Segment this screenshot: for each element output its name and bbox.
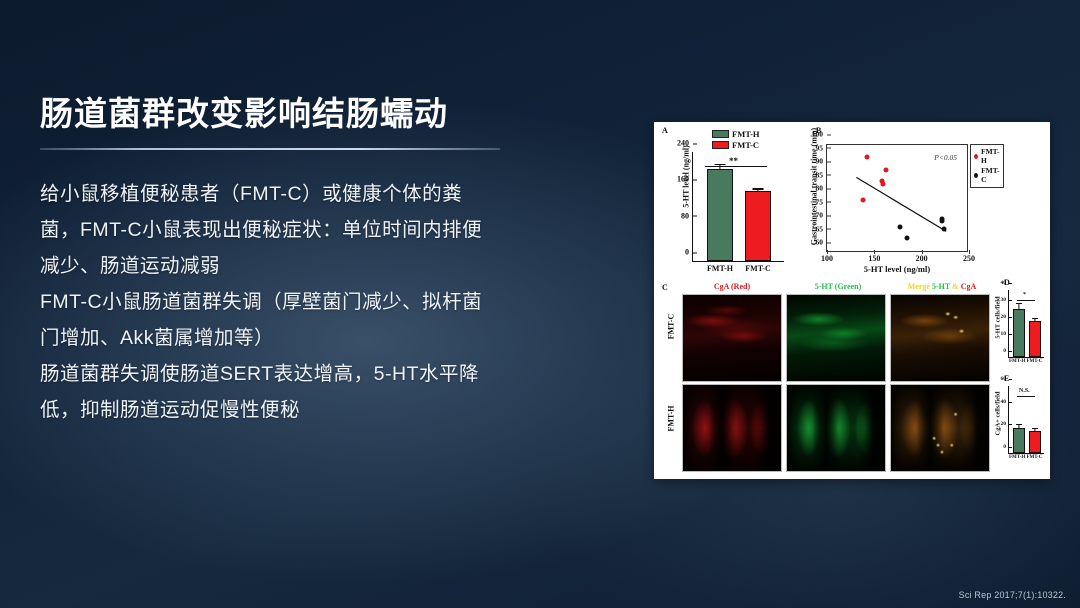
panel-b-point-fmt-h xyxy=(883,168,888,173)
micrograph-fmt-c-merge xyxy=(890,294,990,382)
panel-d-bar-fill-fmt-c xyxy=(1029,321,1041,357)
panel-b-ytick-90: 90 xyxy=(816,157,828,166)
panel-d-bar-fill-fmt-h xyxy=(1013,309,1025,357)
body-line-6: 肠道菌群失调使肠道SERT表达增高，5-HT水平降 xyxy=(40,356,640,392)
panel-c-column-label-cga: CgA (Red) xyxy=(682,282,782,291)
panel-b-point-fmt-h xyxy=(864,154,869,159)
panel-b-ytick-75: 75 xyxy=(816,197,828,206)
micrograph-fmt-c-cga xyxy=(682,294,782,382)
panel-a-bar-chart: A FMT-H FMT-C 5-HT level (ng/ml) 0 80 16… xyxy=(660,126,792,276)
panel-e-bar-fill-fmt-h xyxy=(1013,428,1025,453)
body-line-1: 给小鼠移植便秘患者（FMT-C）或健康个体的粪 xyxy=(40,176,640,212)
panel-a-ytick-80: 80 xyxy=(681,211,693,220)
panel-c-column-label-5ht: 5-HT (Green) xyxy=(788,282,888,291)
panel-b-point-fmt-c xyxy=(897,224,902,229)
panel-b-legend: FMT-H FMT-C xyxy=(970,144,1004,188)
legend-label-b-fmt-h: FMT-H xyxy=(981,147,1000,165)
micrograph-fmt-h-5ht xyxy=(786,384,886,472)
panel-a-errorcap-fmt-h xyxy=(715,164,726,165)
slide-content: 肠道菌群改变影响结肠蠕动 给小鼠移植便秘患者（FMT-C）或健康个体的粪 菌，F… xyxy=(40,96,640,428)
panel-c-row-label-fmt-h: FMT-H xyxy=(667,384,676,454)
panel-b-xtick-100: 100 xyxy=(821,254,833,263)
panel-a-ytick-240: 240 xyxy=(677,139,693,148)
body-line-5: 门增加、Akk菌属增加等） xyxy=(40,320,640,356)
panel-e-plot-area: 0204060 N.S. FMT-H FMT-C xyxy=(1008,386,1044,454)
body-line-4: FMT-C小鼠肠道菌群失调（厚壁菌门减少、拟杆菌 xyxy=(40,284,640,320)
micrograph-fmt-h-cga xyxy=(682,384,782,472)
panel-b-x-axis-label: 5-HT level (ng/ml) xyxy=(826,264,968,274)
legend-dot-fmt-h xyxy=(974,154,978,159)
panel-b-point-fmt-h xyxy=(880,181,885,186)
panel-e-ytick-40: 40 xyxy=(1001,399,1010,405)
panel-b-ytick-85: 85 xyxy=(816,170,828,179)
panel-b-xtick-200: 200 xyxy=(916,254,928,263)
panel-b-pvalue-annotation: P<0.05 xyxy=(934,153,957,162)
panel-a-letter: A xyxy=(662,126,668,135)
panel-e-significance-marker: N.S. xyxy=(1019,388,1030,394)
panel-a-bar-fill-fmt-c xyxy=(745,191,771,261)
panel-a-ytick-160: 160 xyxy=(677,175,693,184)
panel-b-scatter-chart: B Gastrointestinal transit time (min) 60… xyxy=(796,126,986,276)
legend-label-fmt-c: FMT-C xyxy=(732,140,759,150)
panel-e-significance-line xyxy=(1017,396,1035,397)
panel-a-errorcap-fmt-c xyxy=(753,188,764,189)
panel-e-errorbar-fmt-c xyxy=(1034,429,1035,431)
page-title: 肠道菌群改变影响结肠蠕动 xyxy=(40,96,640,132)
body-text-block: 给小鼠移植便秘患者（FMT-C）或健康个体的粪 菌，FMT-C小鼠表现出便秘症状… xyxy=(40,176,640,428)
legend-label-b-fmt-c: FMT-C xyxy=(981,166,1000,184)
panel-d-bar-fmt-h xyxy=(1013,309,1025,357)
panel-b-xtick-150: 150 xyxy=(868,254,880,263)
panel-b-ytick-100: 100 xyxy=(812,130,827,139)
panel-b-ytick-80: 80 xyxy=(816,184,828,193)
panel-b-ytick-70: 70 xyxy=(816,211,828,220)
panel-d-ytick-40: 40 xyxy=(1001,280,1010,286)
panel-b-ytick-60: 60 xyxy=(816,238,828,247)
figure-card: A FMT-H FMT-C 5-HT level (ng/ml) 0 80 16… xyxy=(654,122,1050,479)
body-line-7: 低，抑制肠道运动促慢性便秘 xyxy=(40,392,640,428)
legend-label-fmt-h: FMT-H xyxy=(732,129,760,139)
legend-swatch-fmt-h xyxy=(712,130,729,138)
panel-e-errorbar-fmt-h xyxy=(1018,425,1019,428)
panel-e-ytick-0: 0 xyxy=(1003,444,1009,450)
panel-e-errorcap-fmt-c xyxy=(1032,428,1038,429)
panel-d-ytick-20: 20 xyxy=(1001,314,1010,320)
panel-d-significance-marker: * xyxy=(1023,292,1026,298)
panel-a-errorbar-fmt-c xyxy=(757,190,758,192)
panel-a-plot-area: 0 80 160 240 FMT-H FMT-C ** xyxy=(692,152,784,262)
panel-c-column-label-merge: Merge 5-HT & CgA xyxy=(892,282,992,291)
panel-a-significance-line xyxy=(705,166,767,167)
legend-item-fmt-h: FMT-H xyxy=(712,129,760,139)
panel-b-point-fmt-c xyxy=(905,235,910,240)
panel-b-ytick-65: 65 xyxy=(816,224,828,233)
panel-a-xlabel-fmt-h: FMT-H xyxy=(707,264,733,273)
panel-e-bar-fill-fmt-c xyxy=(1029,431,1041,453)
panel-e-bar-chart: E CgA+ cells/field 0204060 N.S. FMT-H FM… xyxy=(992,376,1048,474)
panel-d-ytick-30: 30 xyxy=(1001,297,1010,303)
panel-d-errorcap-fmt-c xyxy=(1032,318,1038,319)
panel-d-bar-chart: D 5-HT cells/field 010203040 * FMT-H FMT… xyxy=(992,280,1048,374)
panel-a-bar-fmt-h: FMT-H xyxy=(707,169,733,261)
micrograph-fmt-h-merge xyxy=(890,384,990,472)
legend-swatch-fmt-c xyxy=(712,141,729,149)
legend-item-fmt-c: FMT-C xyxy=(712,140,760,150)
panel-b-plot-area: 6065707580859095100 100150200250 P<0.05 xyxy=(826,144,968,252)
body-line-2: 菌，FMT-C小鼠表现出便秘症状：单位时间内排便 xyxy=(40,212,640,248)
panel-e-y-axis-label: CgA+ cells/field xyxy=(995,382,1002,446)
panel-a-xlabel-fmt-c: FMT-C xyxy=(745,264,770,273)
panel-d-bar-fmt-c xyxy=(1029,321,1041,357)
panel-d-errorbar-fmt-h xyxy=(1018,304,1019,309)
panel-e-bar-fmt-h xyxy=(1013,428,1025,453)
legend-dot-fmt-c xyxy=(974,173,978,178)
panel-e-bar-fmt-c xyxy=(1029,431,1041,453)
panel-e-ytick-20: 20 xyxy=(1001,421,1010,427)
panel-d-errorcap-fmt-h xyxy=(1016,303,1022,304)
panel-e-ytick-60: 60 xyxy=(1001,376,1010,382)
legend-item-b-fmt-h: FMT-H xyxy=(974,147,1000,165)
panel-a-significance-marker: ** xyxy=(729,156,738,166)
slide-canvas: 肠道菌群改变影响结肠蠕动 给小鼠移植便秘患者（FMT-C）或健康个体的粪 菌，F… xyxy=(0,0,1080,608)
panel-b-ytick-95: 95 xyxy=(816,143,828,152)
panel-c-micrograph-grid: C CgA (Red) 5-HT (Green) Merge 5-HT & Cg… xyxy=(660,282,990,474)
body-line-3: 减少、肠道运动减弱 xyxy=(40,248,640,284)
panel-a-ytick-0: 0 xyxy=(685,248,693,257)
panel-d-errorbar-fmt-c xyxy=(1034,319,1035,322)
panel-e-errorcap-fmt-h xyxy=(1016,424,1022,425)
citation-text: Sci Rep 2017;7(1):10322. xyxy=(959,590,1066,600)
panel-e-xlabels: FMT-H FMT-C xyxy=(1009,455,1042,460)
panel-a-bar-fmt-c: FMT-C xyxy=(745,191,771,261)
panel-b-xtick-250: 250 xyxy=(963,254,975,263)
panel-d-ytick-0: 0 xyxy=(1003,348,1009,354)
panel-d-ytick-10: 10 xyxy=(1001,331,1010,337)
legend-item-b-fmt-c: FMT-C xyxy=(974,166,1000,184)
title-divider xyxy=(40,148,500,150)
panel-a-bar-fill-fmt-h xyxy=(707,169,733,261)
panel-c-row-label-fmt-c: FMT-C xyxy=(667,292,676,362)
panel-b-point-fmt-h xyxy=(860,197,865,202)
panel-b-point-fmt-c xyxy=(942,227,947,232)
panel-b-point-fmt-c xyxy=(939,219,944,224)
panel-d-significance-line xyxy=(1017,300,1035,301)
micrograph-fmt-c-5ht xyxy=(786,294,886,382)
panel-a-legend: FMT-H FMT-C xyxy=(712,129,760,151)
panel-d-xlabels: FMT-H FMT-C xyxy=(1009,359,1042,364)
panel-d-plot-area: 010203040 * FMT-H FMT-C xyxy=(1008,290,1044,358)
